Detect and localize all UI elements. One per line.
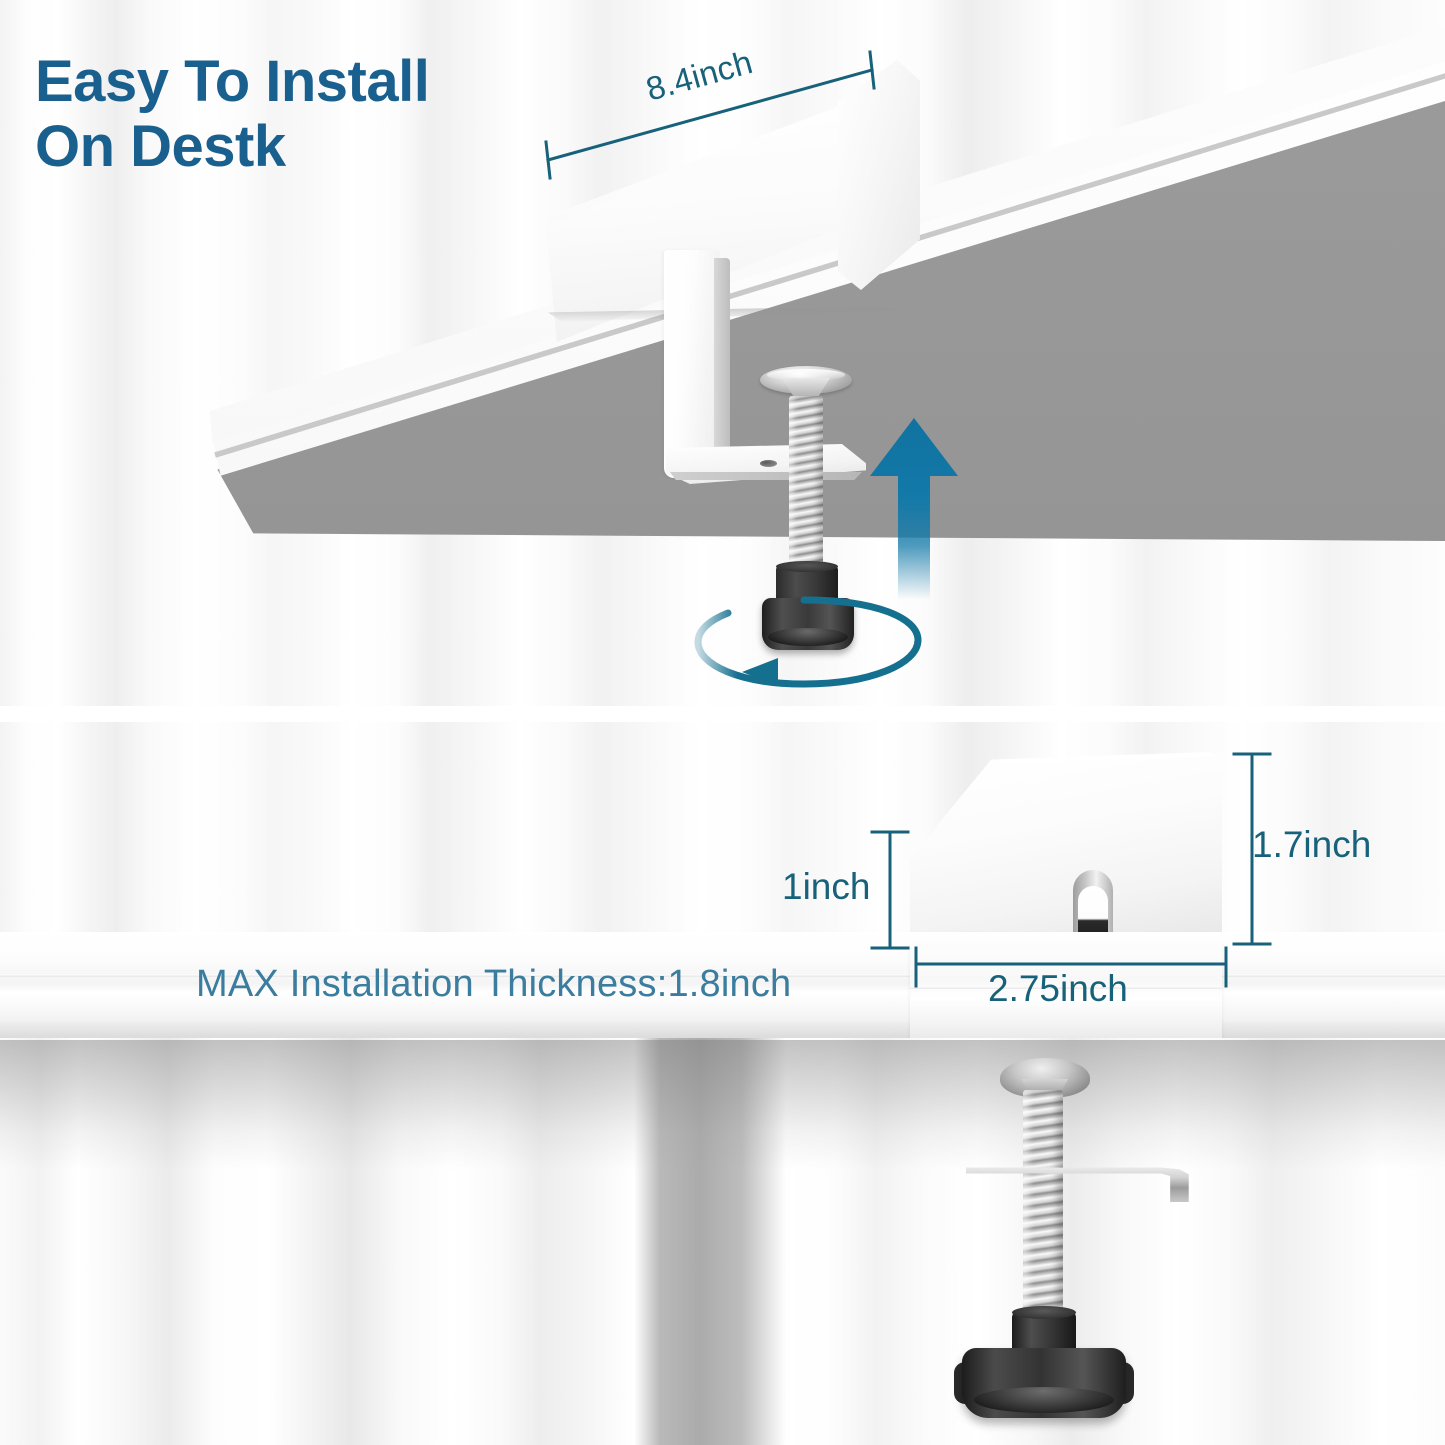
clamp-bracket-vertical-top (664, 250, 720, 478)
panel-dimensions: 1inch 1.7inch 2.75inch MAX Installation … (0, 722, 1445, 1445)
page-title: Easy To Install On Destk (35, 50, 429, 180)
threaded-rod-bottom (1023, 1090, 1063, 1330)
infographic-canvas: 8.4inch Easy To Install On Destk (0, 0, 1445, 1445)
rotate-arrow-icon (692, 590, 924, 698)
dimension-label-1-inch: 1inch (782, 866, 870, 908)
clamp-bracket-hole-top (760, 460, 777, 467)
threaded-rod-top (789, 396, 823, 586)
under-desk-shadow (0, 1040, 1445, 1170)
arrow-up-icon (862, 418, 966, 600)
thumb-knob-body-bottom (962, 1348, 1126, 1418)
dimension-label-2-75-inch: 2.75inch (988, 968, 1128, 1010)
dimension-label-1-7-inch: 1.7inch (1252, 824, 1371, 866)
clamp-bracket-arm-underside-top (670, 472, 862, 480)
panel-install-step: 8.4inch Easy To Install On Destk (0, 0, 1445, 706)
max-thickness-label: MAX Installation Thickness:1.8inch (196, 963, 791, 1006)
